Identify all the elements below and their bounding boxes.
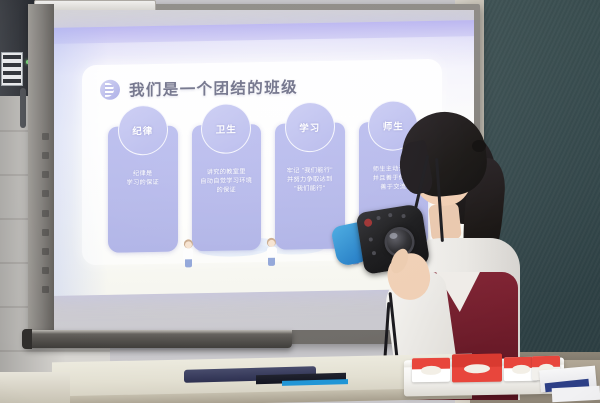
card-body: 纪律是学习的保证	[113, 170, 173, 189]
hair-tie	[472, 140, 486, 152]
desk-side-panel	[0, 372, 70, 403]
whiteboard-side-button[interactable]	[42, 152, 49, 159]
whiteboard-side-button[interactable]	[42, 133, 49, 140]
cartoon-student-figure	[182, 241, 195, 267]
whiteboard-side-button[interactable]	[42, 267, 49, 274]
card-bubble-label: 卫生	[216, 121, 237, 135]
box-label-oval	[421, 366, 441, 375]
switch-port-face	[1, 52, 23, 86]
whiteboard-side-buttons[interactable]	[40, 130, 51, 296]
neck	[428, 203, 462, 242]
cartoon-legs	[268, 258, 275, 266]
box-label-oval	[464, 364, 490, 374]
card-body: 讲究的教室里自动自觉学习环境的保证	[197, 168, 257, 196]
slide-title-row: 我们是一个团结的班级	[100, 75, 298, 101]
card-bubble: 纪律	[118, 105, 168, 156]
ethernet-ports-icon	[3, 55, 21, 83]
camera-control-dot	[401, 214, 406, 219]
camera-control-dot	[372, 251, 377, 256]
camera-control-dot	[369, 237, 374, 242]
pen-tray-highlight	[24, 330, 292, 334]
card-body-line: "我们能行"	[280, 185, 340, 195]
whiteboard-side-button[interactable]	[42, 229, 49, 236]
card-body-line: 学习的保证	[113, 179, 173, 189]
slide-card: 卫生讲究的教室里自动自觉学习环境的保证	[192, 124, 262, 251]
box-label-oval	[512, 365, 530, 373]
whiteboard-side-button[interactable]	[42, 248, 49, 255]
whiteboard-side-button[interactable]	[42, 190, 49, 197]
whiteboard-side-button[interactable]	[42, 286, 49, 293]
card-body-line: 的保证	[197, 186, 257, 196]
red-white-box	[412, 358, 450, 383]
red-white-box	[452, 354, 502, 383]
camera-record-button	[364, 218, 373, 227]
card-bubble-label: 学习	[299, 120, 320, 134]
projector-top-band	[54, 20, 474, 44]
camera-control-dot	[376, 216, 381, 221]
slide-title: 我们是一个团结的班级	[129, 75, 298, 100]
card-bubble-label: 纪律	[132, 123, 153, 137]
whiteboard-side-button[interactable]	[42, 171, 49, 178]
classroom-screenshot: 我们是一个团结的班级 纪律纪律是学习的保证卫生讲究的教室里自动自觉学习环境的保证…	[0, 0, 600, 403]
card-bubble: 学习	[285, 102, 335, 153]
cartoon-student-figure	[265, 240, 278, 266]
half-circle-stripes-icon	[100, 80, 120, 100]
paper-sheet	[552, 386, 600, 402]
cartoon-legs	[185, 259, 192, 267]
card-bubble: 卫生	[201, 103, 251, 154]
pen-tray-end-cap	[22, 329, 32, 349]
camera-control-dot	[388, 213, 393, 218]
whiteboard-side-button[interactable]	[42, 210, 49, 217]
slide-card: 纪律纪律是学习的保证	[108, 126, 178, 253]
card-body: 牢记 "我们能行"并努力争取达到"我们能行"	[280, 167, 340, 195]
cable-run	[20, 88, 26, 128]
